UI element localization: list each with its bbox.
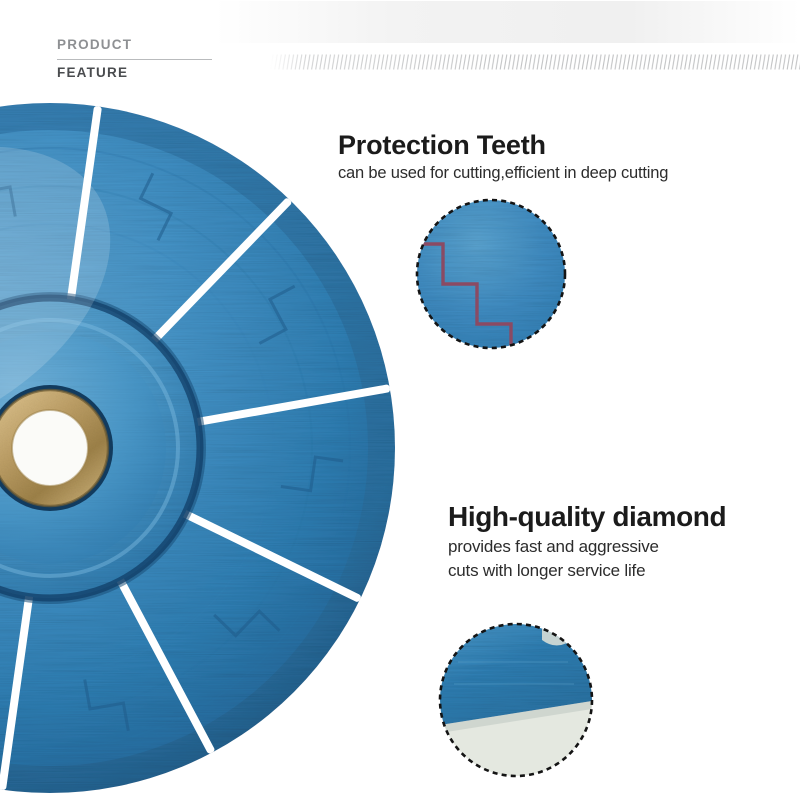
header-divider [57,59,212,60]
header-gradient-band [215,1,800,43]
diamond-segment-detail-illustration [438,622,594,778]
segment-chip [542,622,574,646]
feature-title: High-quality diamond [448,500,800,533]
feature-block-high-quality-diamond: High-quality diamond provides fast and a… [448,500,800,581]
protection-teeth-detail-circle [415,198,567,350]
header-title-block: PRODUCT FEATURE [57,36,212,82]
feature-title: Protection Teeth [338,130,798,161]
feature-block-protection-teeth: Protection Teeth can be used for cutting… [338,130,798,184]
diamond-segment-detail-circle [438,622,594,778]
page-header: PRODUCT FEATURE [0,0,800,100]
feature-description: can be used for cutting,efficient in dee… [338,163,798,184]
protection-teeth-detail-illustration [415,198,567,350]
diagonal-hatch-pattern-icon [270,52,800,72]
feature-description-line-2: cuts with longer service life [448,560,800,581]
feature-description-line-1: provides fast and aggressive [448,536,800,557]
feature-label: FEATURE [57,64,212,82]
product-feature-page: PRODUCT FEATURE [0,0,800,800]
product-label: PRODUCT [57,36,212,54]
diamond-saw-blade-image [0,98,400,798]
